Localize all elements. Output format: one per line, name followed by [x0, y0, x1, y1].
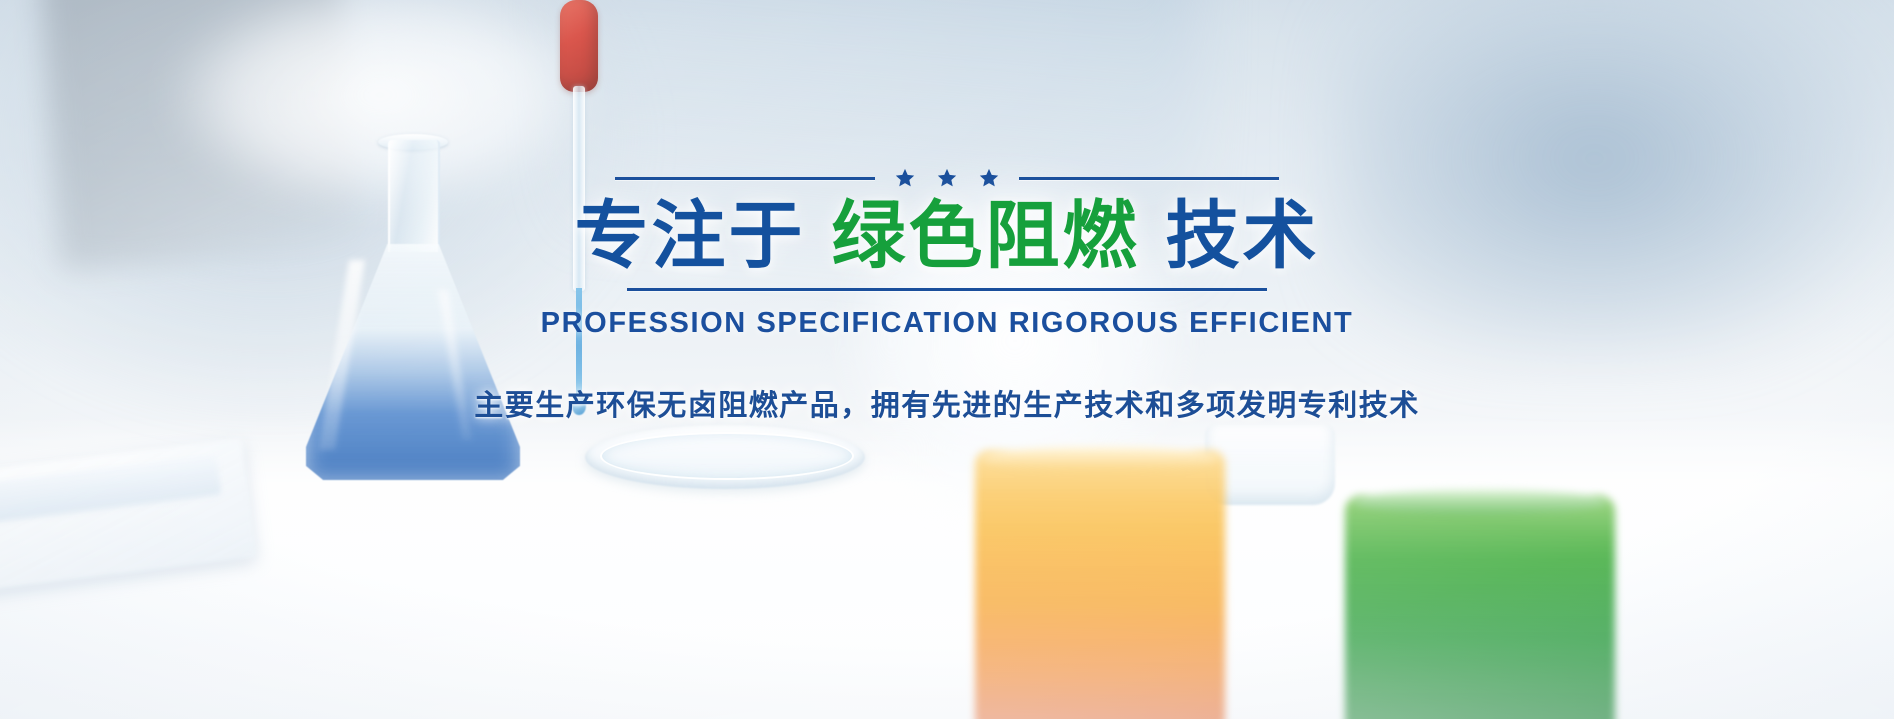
headline-part-primary: 专注于 — [575, 194, 806, 277]
divider-rule-left — [615, 177, 875, 180]
banner-content: 专注于绿色阻燃技术 PROFESSION SPECIFICATION RIGOR… — [0, 0, 1894, 719]
hero-banner: 专注于绿色阻燃技术 PROFESSION SPECIFICATION RIGOR… — [0, 0, 1894, 719]
star-divider — [615, 168, 1279, 188]
star-icon — [979, 168, 999, 188]
star-icon — [895, 168, 915, 188]
headline-underline-rule — [627, 288, 1267, 291]
subtitle-english: PROFESSION SPECIFICATION RIGOROUS EFFICI… — [541, 307, 1354, 340]
headline-part-secondary: 技术 — [1166, 194, 1320, 277]
headline-part-highlight: 绿色阻燃 — [832, 194, 1140, 277]
tagline-chinese: 主要生产环保无卤阻燃产品，拥有先进的生产技术和多项发明专利技术 — [474, 382, 1420, 424]
star-icon — [937, 168, 957, 188]
divider-stars — [889, 168, 1005, 188]
page-title: 专注于绿色阻燃技术 — [575, 198, 1320, 274]
divider-rule-right — [1019, 177, 1279, 180]
